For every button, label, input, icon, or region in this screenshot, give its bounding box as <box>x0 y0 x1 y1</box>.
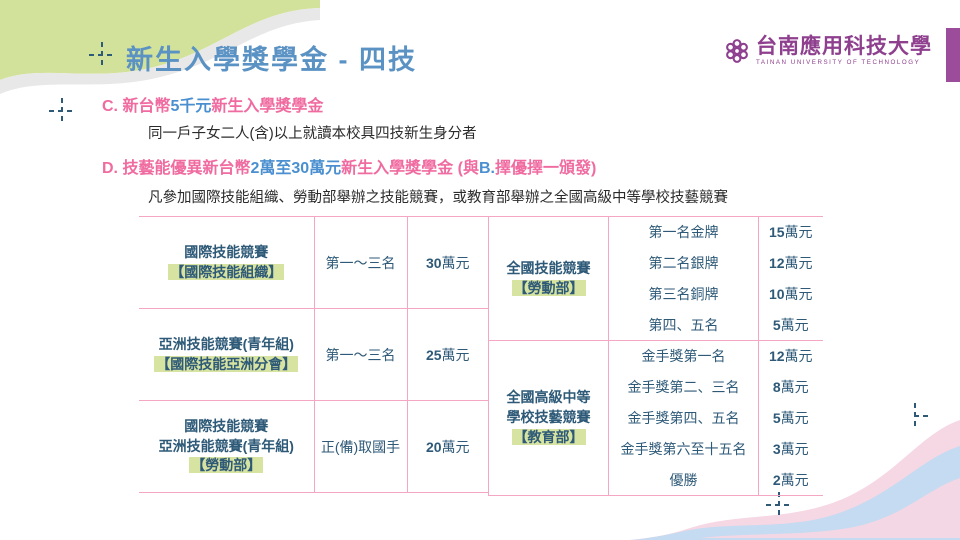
category-line: 全國技能競賽 <box>493 259 604 279</box>
scholarship-table-international: 國際技能競賽 【國際技能組織】 第一～三名 30萬元 亞洲技能競賽(青年組) 【… <box>139 216 488 493</box>
amount-number: 25 <box>426 347 442 363</box>
table-row: 全國高級中等 學校技藝競賽 【教育部】 金手獎第一名 12萬元 <box>489 341 823 372</box>
decor-purple-bar <box>946 28 960 82</box>
section-d-amount: 2萬至30萬元 <box>250 160 341 177</box>
cell-rank: 第一名金牌 <box>609 217 759 248</box>
section-d-heading: D. 技藝能優異新台幣2萬至30萬元新生入學獎學金 (與B.擇優擇一頒發) <box>102 154 596 178</box>
amount-number: 30 <box>426 255 442 271</box>
amount-number: 8 <box>773 379 781 395</box>
table-row: 國際技能競賽 亞洲技能競賽(青年組) 【勞動部】 正(備)取國手 20萬元 <box>139 401 488 493</box>
table-right-body: 全國技能競賽 【勞動部】 第一名金牌 15萬元 第二名銀牌 12萬元 第三名銅牌… <box>489 217 823 496</box>
cell-rank: 第一～三名 <box>314 309 407 401</box>
category-tag: 【教育部】 <box>493 428 604 448</box>
cell-category: 全國高級中等 學校技藝競賽 【教育部】 <box>489 341 609 496</box>
section-d-description: 凡參加國際技能組織、勞動部舉辦之技能競賽，或教育部舉辦之全國高級中等學校技藝競賽 <box>148 186 728 207</box>
amount-number: 20 <box>426 439 442 455</box>
category-line: 亞洲技能競賽(青年組) <box>143 437 310 457</box>
cell-category: 亞洲技能競賽(青年組) 【國際技能亞洲分會】 <box>139 309 314 401</box>
amount-number: 2 <box>773 472 781 488</box>
logo-text: 台南應用科技大學 TAINAN UNIVERSITY OF TECHNOLOGY <box>756 36 932 66</box>
cell-amount: 5萬元 <box>759 310 823 341</box>
logo-name-chinese: 台南應用科技大學 <box>756 36 932 57</box>
section-c-text-2: 新生入學獎學金 <box>211 98 323 115</box>
cell-rank: 第一～三名 <box>314 217 407 309</box>
amount-number: 5 <box>773 317 781 333</box>
section-d-note-close: 擇優擇一頒發) <box>495 160 596 177</box>
crosshair-marker-right <box>902 403 928 429</box>
logo-name-english: TAINAN UNIVERSITY OF TECHNOLOGY <box>756 60 932 66</box>
cell-amount: 8萬元 <box>759 372 823 403</box>
category-tag-text: 【勞動部】 <box>512 280 586 296</box>
cell-amount: 15萬元 <box>759 217 823 248</box>
category-tag-text: 【國際技能亞洲分會】 <box>154 356 298 372</box>
category-line: 國際技能競賽 <box>143 417 310 437</box>
cell-rank: 金手獎第一名 <box>609 341 759 372</box>
category-line: 學校技藝競賽 <box>493 408 604 428</box>
amount-number: 10 <box>769 286 785 302</box>
amount-unit: 萬元 <box>785 348 813 364</box>
category-line: 國際技能競賽 <box>143 243 310 263</box>
cell-rank: 第三名銅牌 <box>609 279 759 310</box>
cell-rank: 第四、五名 <box>609 310 759 341</box>
amount-unit: 萬元 <box>781 410 809 426</box>
cell-category: 國際技能競賽 亞洲技能競賽(青年組) 【勞動部】 <box>139 401 314 493</box>
section-c-description: 同一戶子女二人(含)以上就讀本校具四技新生身分者 <box>148 122 477 143</box>
cell-amount: 5萬元 <box>759 403 823 434</box>
cell-amount: 30萬元 <box>407 217 488 309</box>
cell-rank: 金手獎第四、五名 <box>609 403 759 434</box>
section-d-text-2: 新生入學獎學金 <box>341 160 453 177</box>
section-c-amount: 5千元 <box>170 98 211 115</box>
amount-unit: 萬元 <box>781 317 809 333</box>
slide-canvas: 新生入學獎學金 - 四技 台南應用科技大學 TAINAN UNIVERSITY … <box>0 0 960 540</box>
table-row: 亞洲技能競賽(青年組) 【國際技能亞洲分會】 第一～三名 25萬元 <box>139 309 488 401</box>
cell-rank: 第二名銀牌 <box>609 248 759 279</box>
section-c-label: C. <box>102 98 122 115</box>
category-tag: 【國際技能組織】 <box>143 263 310 283</box>
section-d-note-open: (與 <box>453 160 479 177</box>
cell-rank: 金手獎第二、三名 <box>609 372 759 403</box>
section-d-note-ref: B. <box>479 160 495 177</box>
amount-number: 3 <box>773 441 781 457</box>
amount-number: 15 <box>769 224 785 240</box>
category-tag-text: 【國際技能組織】 <box>168 264 284 280</box>
amount-number: 5 <box>773 410 781 426</box>
amount-unit: 萬元 <box>442 439 470 455</box>
page-title: 新生入學獎學金 - 四技 <box>126 38 417 77</box>
amount-unit: 萬元 <box>442 347 470 363</box>
cell-category: 全國技能競賽 【勞動部】 <box>489 217 609 341</box>
amount-unit: 萬元 <box>785 255 813 271</box>
cell-amount: 25萬元 <box>407 309 488 401</box>
cell-amount: 20萬元 <box>407 401 488 493</box>
table-row: 國際技能競賽 【國際技能組織】 第一～三名 30萬元 <box>139 217 488 309</box>
amount-number: 12 <box>769 255 785 271</box>
university-logo: 台南應用科技大學 TAINAN UNIVERSITY OF TECHNOLOGY <box>724 36 932 66</box>
scholarship-table-national: 全國技能競賽 【勞動部】 第一名金牌 15萬元 第二名銀牌 12萬元 第三名銅牌… <box>488 216 823 496</box>
flower-logo-icon <box>724 38 750 64</box>
cell-category: 國際技能競賽 【國際技能組織】 <box>139 217 314 309</box>
section-d-text-1: 技藝能優異新台幣 <box>122 160 250 177</box>
amount-unit: 萬元 <box>781 472 809 488</box>
section-c-text-1: 新台幣 <box>122 98 170 115</box>
amount-unit: 萬元 <box>781 379 809 395</box>
crosshair-marker-title <box>89 42 115 68</box>
cell-rank: 正(備)取國手 <box>314 401 407 493</box>
amount-number: 12 <box>769 348 785 364</box>
section-c-heading: C. 新台幣5千元新生入學獎學金 <box>102 92 323 116</box>
table-left-body: 國際技能競賽 【國際技能組織】 第一～三名 30萬元 亞洲技能競賽(青年組) 【… <box>139 217 488 493</box>
category-tag-text: 【勞動部】 <box>189 457 263 473</box>
cell-amount: 3萬元 <box>759 434 823 465</box>
cell-amount: 10萬元 <box>759 279 823 310</box>
cell-amount: 2萬元 <box>759 465 823 496</box>
category-tag: 【國際技能亞洲分會】 <box>143 355 310 375</box>
table-row: 全國技能競賽 【勞動部】 第一名金牌 15萬元 <box>489 217 823 248</box>
category-tag-text: 【教育部】 <box>512 429 586 445</box>
amount-unit: 萬元 <box>442 255 470 271</box>
category-tag: 【勞動部】 <box>493 279 604 299</box>
crosshair-marker-left <box>49 98 75 124</box>
amount-unit: 萬元 <box>781 441 809 457</box>
cell-amount: 12萬元 <box>759 341 823 372</box>
cell-rank: 金手獎第六至十五名 <box>609 434 759 465</box>
category-line: 亞洲技能競賽(青年組) <box>143 335 310 355</box>
cell-amount: 12萬元 <box>759 248 823 279</box>
category-line: 全國高級中等 <box>493 388 604 408</box>
amount-unit: 萬元 <box>785 286 813 302</box>
section-d-label: D. <box>102 160 122 177</box>
amount-unit: 萬元 <box>785 224 813 240</box>
category-tag: 【勞動部】 <box>143 456 310 476</box>
cell-rank: 優勝 <box>609 465 759 496</box>
